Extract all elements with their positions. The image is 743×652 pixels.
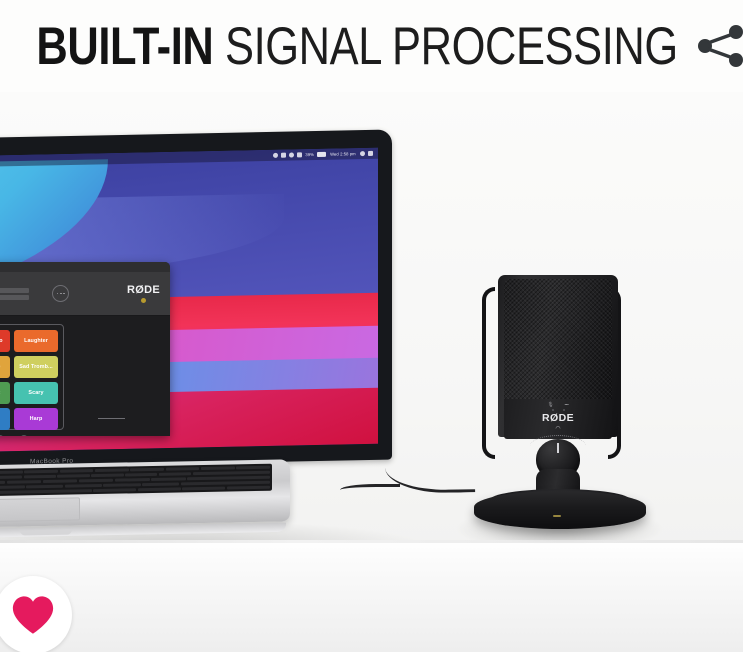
meter-track-left	[0, 288, 29, 293]
meter-track-right	[0, 295, 29, 300]
rode-brand: RØDE	[127, 284, 160, 303]
macbook-pro: 39% Wed 2:58 pm RØDE Connect REC	[0, 140, 415, 540]
sounds-pad-connector	[98, 418, 125, 419]
headphone-icon: ◠	[555, 425, 560, 432]
menubar-bluetooth-icon[interactable]	[289, 152, 294, 157]
share-icon[interactable]	[691, 20, 743, 72]
usb-cable-segment	[340, 484, 400, 494]
pad-label: Harp	[30, 416, 43, 422]
heart-icon	[10, 592, 56, 638]
app-titlebar[interactable]: RØDE Connect	[0, 262, 170, 272]
laptop-base	[0, 459, 290, 532]
more-dots-icon[interactable]	[52, 285, 69, 302]
sound-pads-grid: Intro Outro Laughter Applause Sad Tromb.…	[0, 330, 58, 430]
sound-pad[interactable]: Crickets	[0, 408, 10, 430]
brand-led	[141, 298, 146, 303]
mic-yoke-left	[482, 287, 495, 459]
mic-icon: 🎙	[547, 402, 553, 408]
sound-pad[interactable]: Scary	[14, 382, 58, 404]
mic-indicator-leds	[552, 409, 565, 411]
chevron-left-icon[interactable]	[0, 435, 4, 436]
menubar-control-center-icon[interactable]	[273, 153, 278, 158]
desk-edge	[0, 540, 743, 543]
pad-label: Laughter	[24, 338, 48, 344]
sound-pad[interactable]: Rim Shot	[0, 382, 10, 404]
sound-pad[interactable]: Laughter	[14, 330, 58, 352]
meter-row-right: R	[0, 295, 29, 300]
output-meters: L R	[0, 288, 29, 300]
laptop-keyboard[interactable]	[0, 464, 272, 501]
rode-nt-usb-mini-microphone: 🎙 ⎓ RØDE ◠	[452, 263, 667, 533]
menubar-clock[interactable]: Wed 2:58 pm	[330, 151, 356, 156]
sound-pad[interactable]: Harp	[14, 408, 58, 430]
header-banner: BUILT-IN SIGNAL PROCESSING	[0, 0, 743, 92]
app-mixer-body: ◂1	[0, 316, 170, 436]
usb-icon: ⎓	[565, 402, 569, 408]
mic-front-panel: 🎙 ⎓ RØDE ◠	[504, 399, 612, 439]
mic-knob-indicator	[557, 443, 559, 453]
sound-pads-panel: Intro Outro Laughter Applause Sad Tromb.…	[0, 324, 64, 430]
laptop-base-notch	[20, 530, 72, 536]
menubar-siri-icon[interactable]	[368, 151, 373, 156]
pad-label: Intro Outro	[0, 338, 3, 344]
sound-pads-pagination: 1	[0, 435, 28, 436]
mic-brand-label: RØDE	[542, 412, 574, 424]
menubar-display-icon[interactable]	[281, 153, 286, 158]
laptop-trackpad[interactable]	[0, 497, 80, 523]
mic-grille	[504, 279, 612, 399]
rode-brand-label: RØDE	[127, 284, 160, 296]
pad-label: Scary	[28, 390, 43, 396]
headline-bold: BUILT-IN	[37, 17, 214, 76]
app-transport-bar: REC 0:00:19 L R	[0, 272, 170, 316]
headline-light: SIGNAL PROCESSING	[214, 17, 678, 76]
chevron-right-icon[interactable]	[20, 435, 28, 436]
pads-page-number: 1	[10, 436, 14, 437]
pad-label: Sad Tromb...	[19, 364, 53, 370]
menubar-volume-icon[interactable]	[297, 152, 302, 157]
product-image-scene: BUILT-IN SIGNAL PROCESSING	[0, 0, 743, 652]
pad-label: Applause	[0, 364, 1, 370]
meter-row-left: L	[0, 288, 29, 293]
desk-surface	[0, 540, 743, 652]
sound-pad[interactable]: Applause	[0, 356, 10, 378]
menubar-search-icon[interactable]	[360, 151, 365, 156]
mic-base-led	[553, 515, 561, 517]
mic-base	[474, 491, 646, 529]
mic-indicator-icons: 🎙 ⎓	[547, 402, 568, 408]
menubar-battery-label: 39%	[305, 152, 314, 157]
page-title: BUILT-IN SIGNAL PROCESSING	[37, 20, 678, 73]
sound-pad[interactable]: Sad Tromb...	[14, 356, 58, 378]
rode-connect-window: RØDE Connect REC 0:00:19 L	[0, 262, 170, 436]
favorite-button[interactable]	[0, 576, 72, 652]
sound-pad[interactable]: Intro Outro	[0, 330, 10, 352]
menubar-battery-icon[interactable]	[317, 152, 326, 157]
